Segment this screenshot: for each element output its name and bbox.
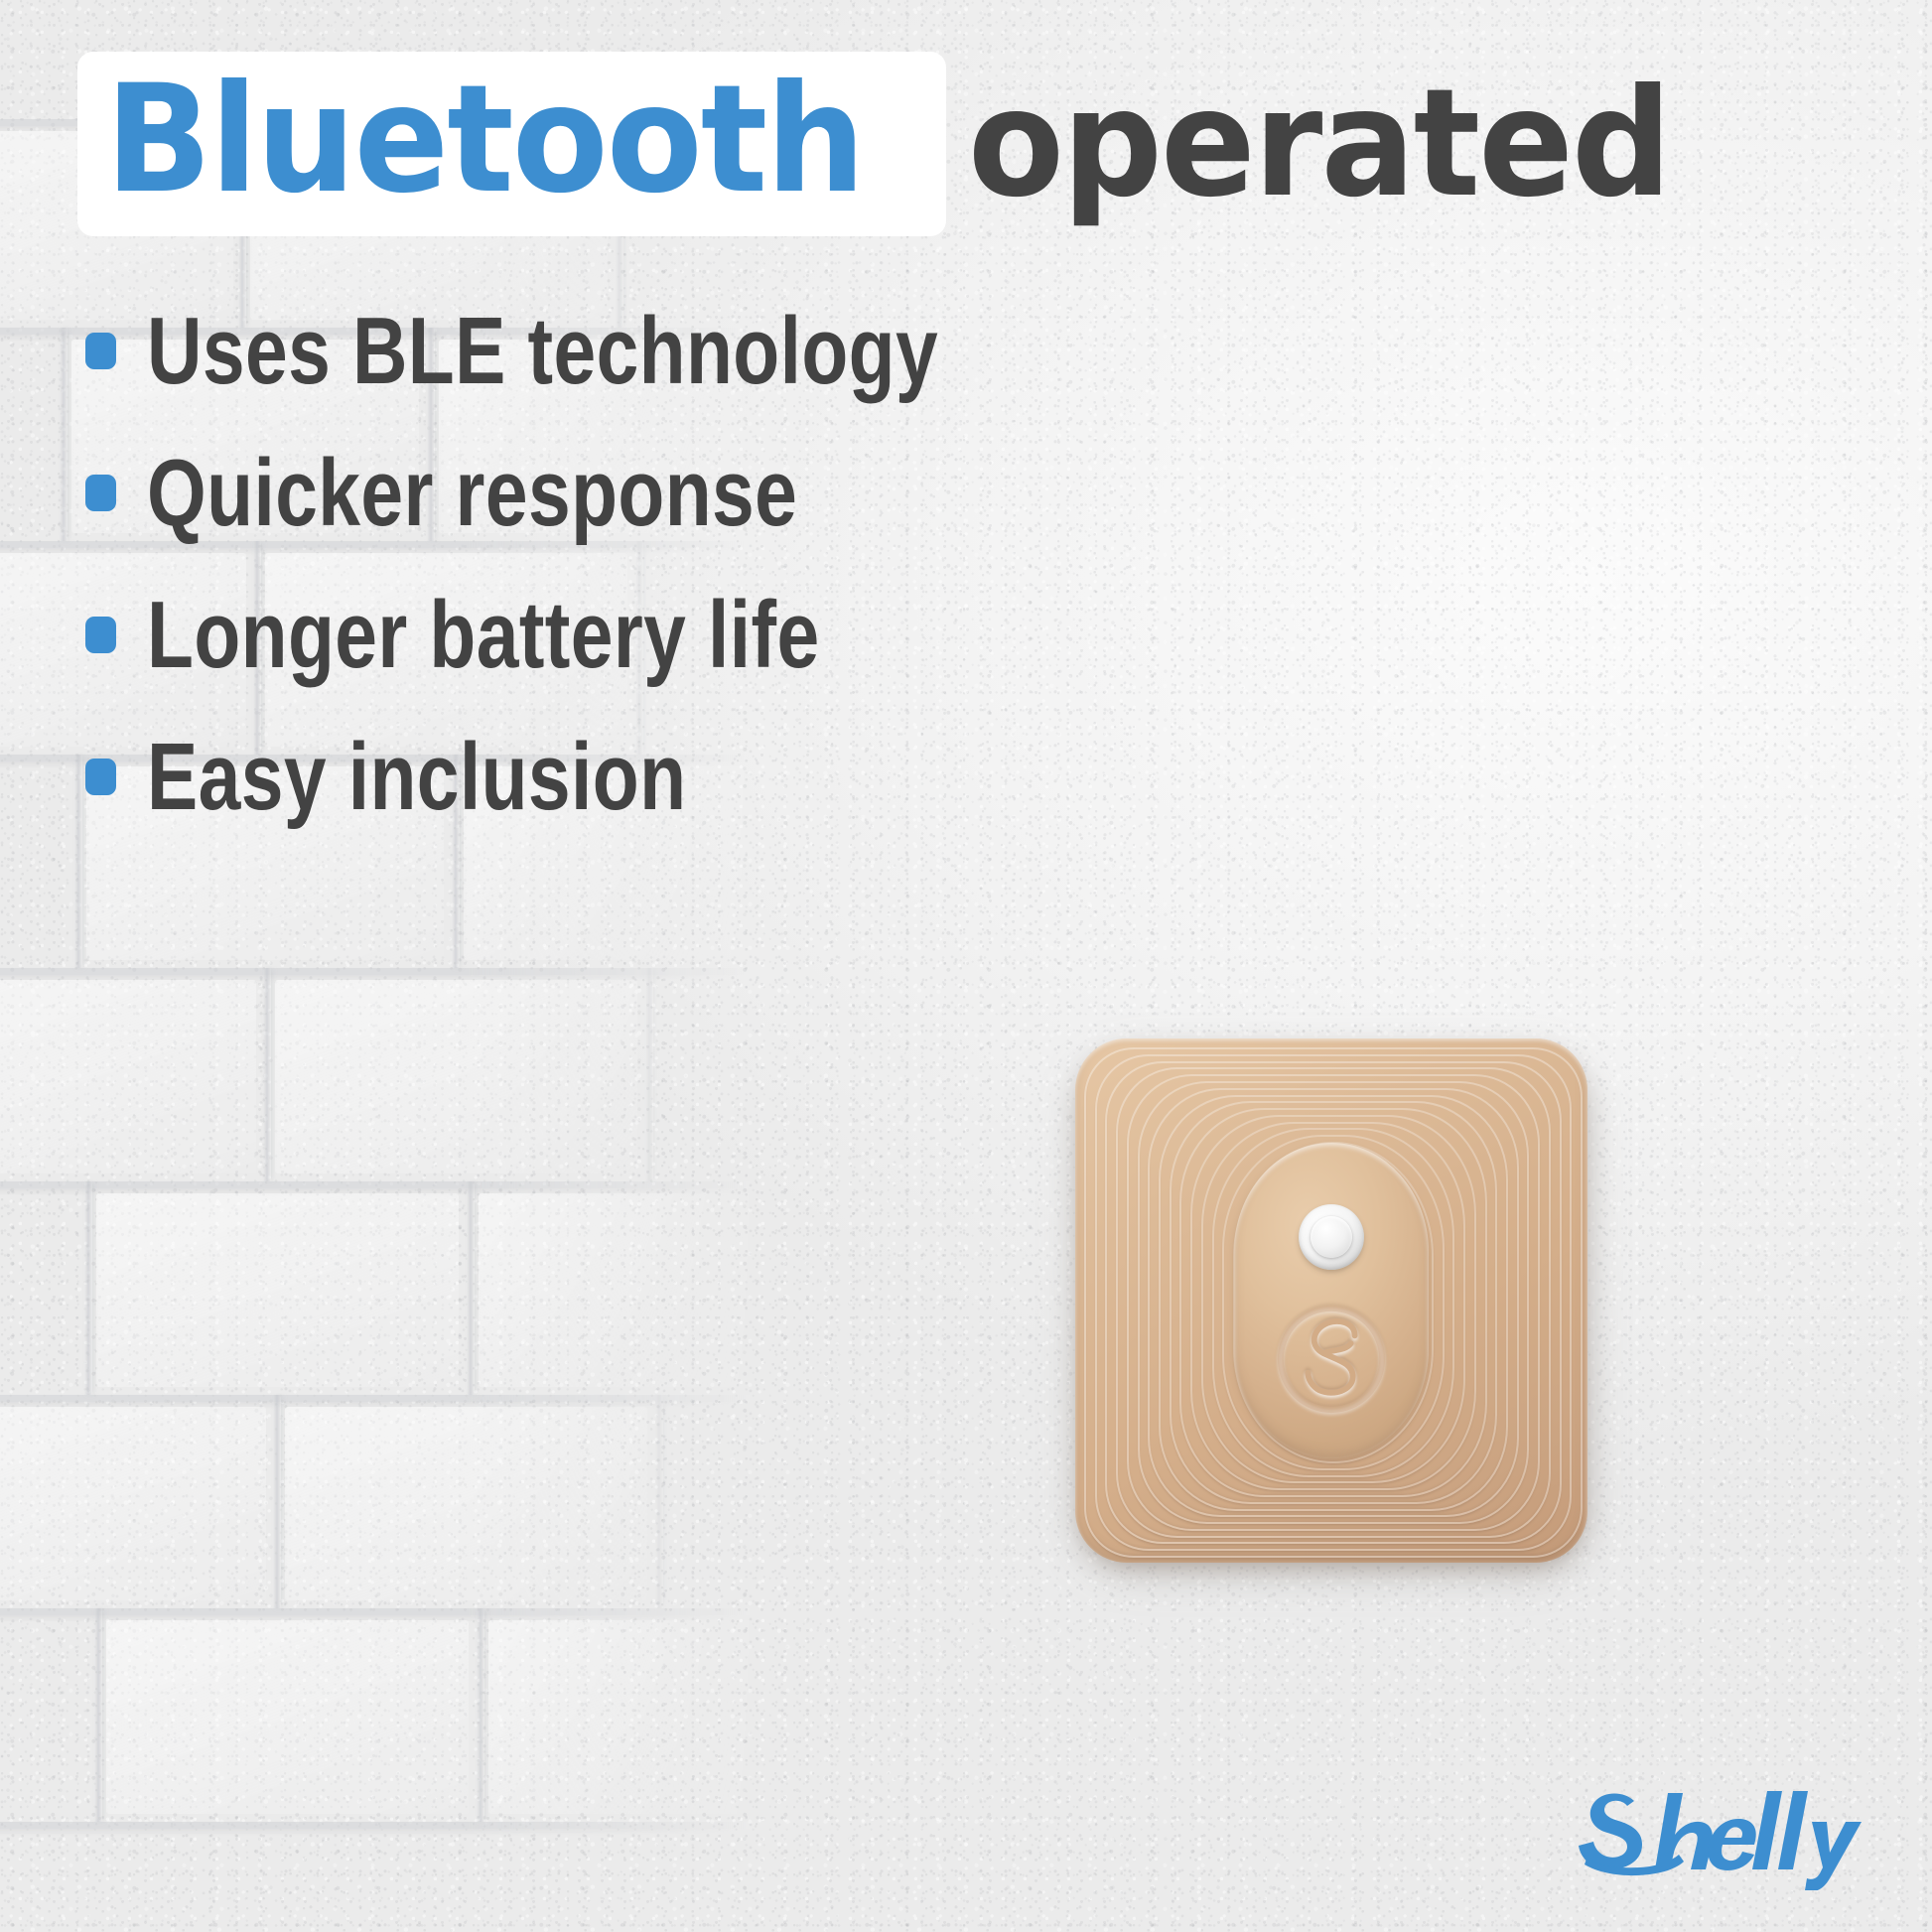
bullet-square-icon <box>85 333 116 369</box>
list-item: Quicker response <box>85 422 1078 564</box>
shelly-brand-logo: Shelly <box>1573 1779 1870 1890</box>
feature-label: Easy inclusion <box>147 730 686 825</box>
headline-highlight-chip: Bluetooth <box>77 52 946 236</box>
device-faceplate <box>1075 1038 1587 1563</box>
shelly-s-emboss-icon <box>1273 1301 1390 1418</box>
list-item: Longer battery life <box>85 564 1078 706</box>
device-led-cap <box>1311 1216 1352 1258</box>
bullet-square-icon <box>85 617 116 653</box>
headline-rest-text: operated <box>968 69 1670 218</box>
feature-label: Longer battery life <box>147 588 820 683</box>
shelly-wall-switch-device <box>1075 1038 1587 1563</box>
feature-list: Uses BLE technology Quicker response Lon… <box>85 280 1078 848</box>
headline: Bluetooth operated <box>77 52 1715 236</box>
bullet-square-icon <box>85 475 116 511</box>
feature-label: Quicker response <box>147 446 797 541</box>
device-led-button[interactable] <box>1299 1204 1364 1270</box>
list-item: Uses BLE technology <box>85 280 1078 422</box>
headline-highlight-text: Bluetooth <box>105 66 864 214</box>
device-main-button[interactable] <box>1234 1143 1429 1458</box>
poster-canvas: Bluetooth operated Uses BLE technology Q… <box>0 0 1932 1932</box>
feature-label: Uses BLE technology <box>147 304 938 399</box>
list-item: Easy inclusion <box>85 706 1078 848</box>
bullet-square-icon <box>85 759 116 795</box>
